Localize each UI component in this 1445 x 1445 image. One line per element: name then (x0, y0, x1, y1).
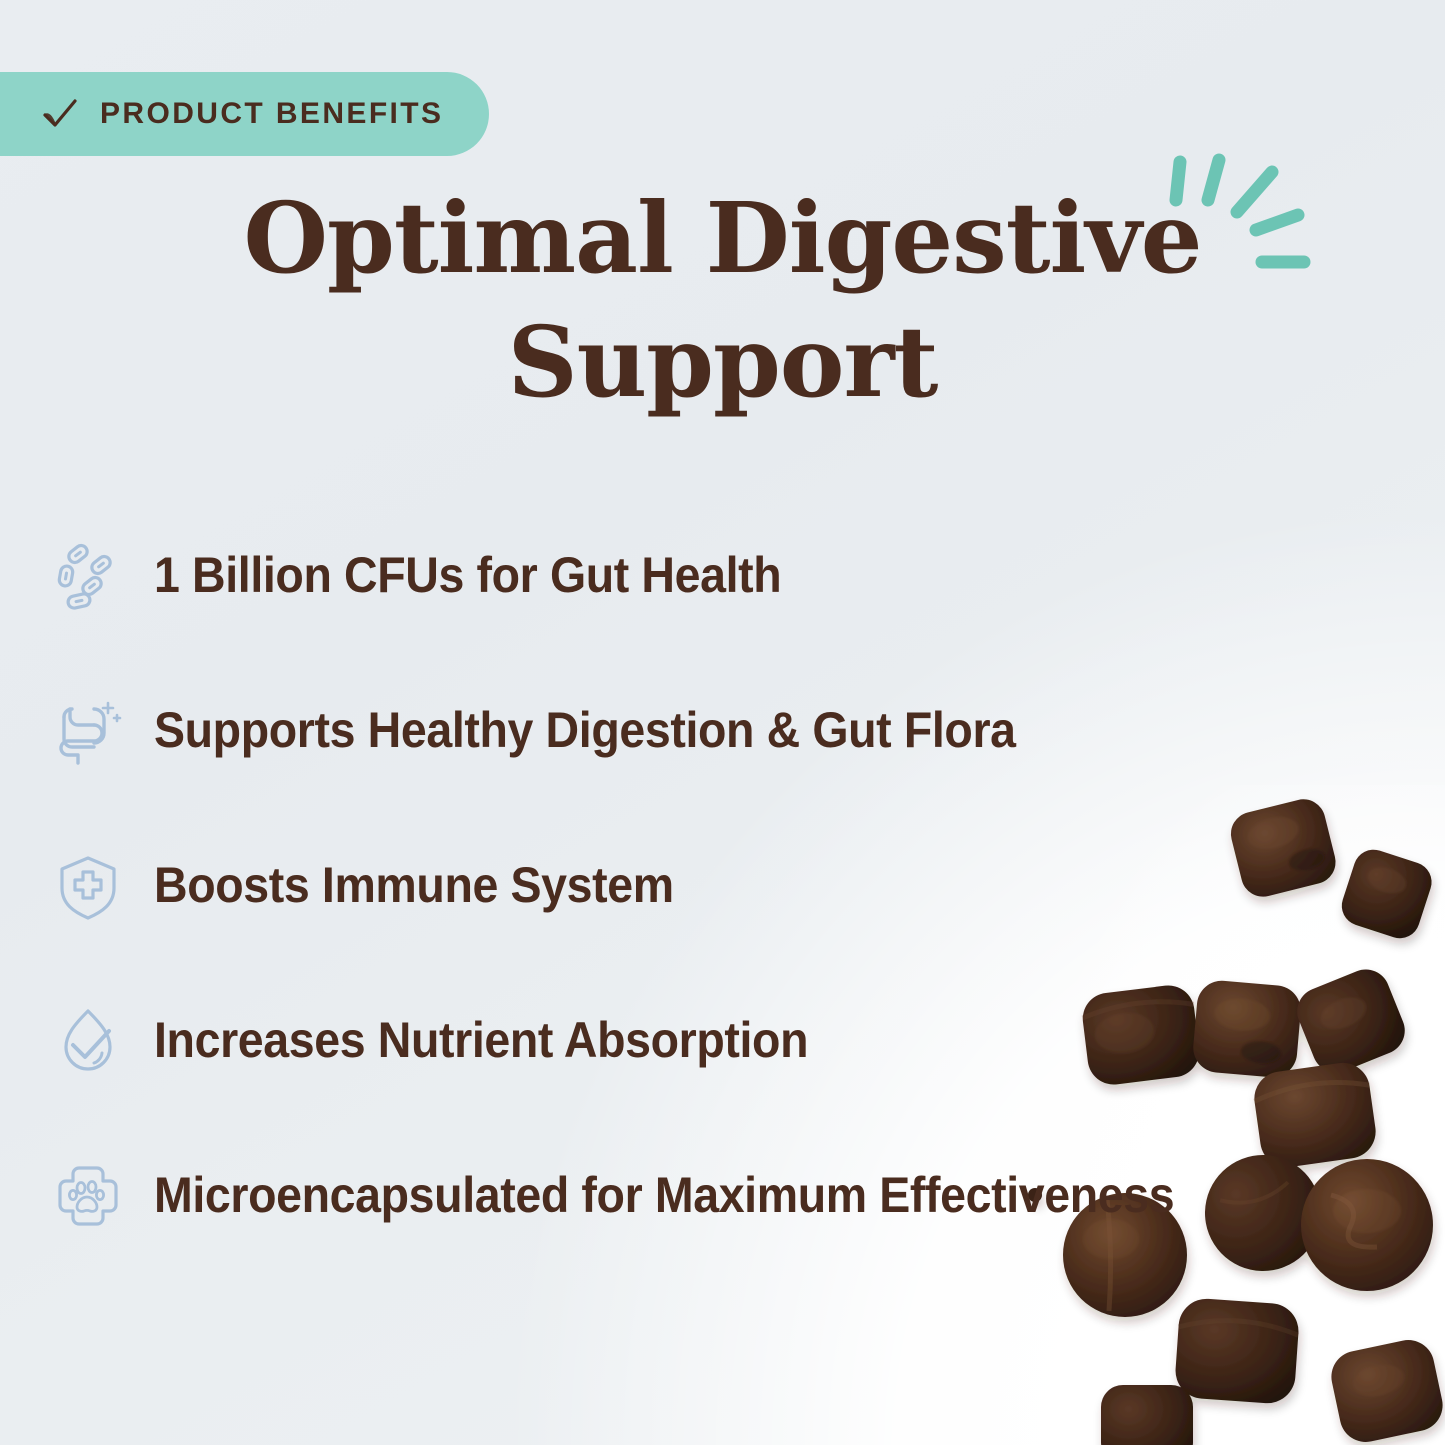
intestine-sparkle-icon (52, 695, 124, 767)
droplet-check-icon (52, 1005, 124, 1077)
benefit-item-immune: Boosts Immune System (52, 808, 1405, 963)
shield-cross-icon (52, 850, 124, 922)
benefits-list: 1 Billion CFUs for Gut Health Supp (52, 498, 1405, 1273)
page-title: Optimal Digestive Support (0, 176, 1445, 424)
probiotic-bacteria-icon (52, 540, 124, 612)
benefit-text: Boosts Immune System (154, 859, 674, 912)
badge-label: PRODUCT BENEFITS (100, 97, 443, 131)
page-title-line-1: Optimal Digestive (120, 176, 1325, 300)
product-benefits-badge: PRODUCT BENEFITS (0, 72, 489, 156)
benefit-item-digestion: Supports Healthy Digestion & Gut Flora (52, 653, 1405, 808)
benefit-text: Microencapsulated for Maximum Effectiven… (154, 1169, 1174, 1222)
product-benefits-infographic: PRODUCT BENEFITS (0, 0, 1445, 1445)
benefit-text: 1 Billion CFUs for Gut Health (154, 549, 781, 602)
check-icon (40, 94, 80, 134)
benefit-item-cfus: 1 Billion CFUs for Gut Health (52, 498, 1405, 653)
cross-paw-icon (52, 1160, 124, 1232)
page-title-line-2: Support (120, 300, 1325, 424)
benefit-text: Supports Healthy Digestion & Gut Flora (154, 704, 1016, 757)
benefit-item-absorption: Increases Nutrient Absorption (52, 963, 1405, 1118)
benefit-item-microencapsulated: Microencapsulated for Maximum Effectiven… (52, 1118, 1405, 1273)
benefit-text: Increases Nutrient Absorption (154, 1014, 808, 1067)
